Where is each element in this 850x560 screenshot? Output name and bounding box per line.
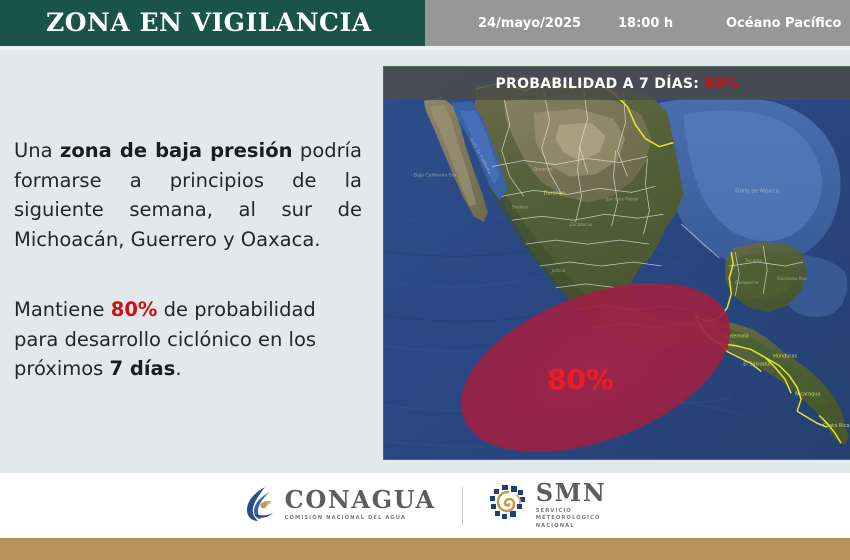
paragraph1-part1: Una bbox=[14, 139, 60, 162]
map-caption-bar: PROBABILIDAD A 7 DÍAS: 80% bbox=[384, 67, 850, 100]
page-header: ZONA EN VIGILANCIA 24/mayo/2025 18:00 h … bbox=[0, 0, 850, 46]
footer-logos: CONAGUA COMISIÓN NACIONAL DEL AGUA bbox=[0, 473, 850, 538]
bulletin-paragraph-1: Una zona de baja presión podría formarse… bbox=[14, 136, 362, 254]
bulletin-text: Una zona de baja presión podría formarse… bbox=[14, 136, 362, 384]
header-basin: Océano Pacífico bbox=[726, 0, 841, 46]
smn-spiral-icon bbox=[489, 484, 527, 526]
conagua-logo: CONAGUA COMISIÓN NACIONAL DEL AGUA bbox=[244, 485, 436, 527]
paragraph2-part3: . bbox=[175, 357, 181, 380]
svg-text:Sinaloa: Sinaloa bbox=[512, 204, 528, 210]
svg-text:Durango: Durango bbox=[534, 166, 553, 172]
svg-text:Nicaragua: Nicaragua bbox=[795, 391, 820, 397]
conagua-name: CONAGUA bbox=[285, 488, 436, 512]
smn-subtitle-line1: SERVICIO bbox=[536, 508, 572, 514]
smn-text: SMN SERVICIOMETEOROLÓGICONACIONAL bbox=[536, 481, 607, 529]
paragraph1-emphasis: zona de baja presión bbox=[60, 139, 292, 162]
smn-logo: SMN SERVICIOMETEOROLÓGICONACIONAL bbox=[489, 481, 607, 529]
forecast-map[interactable]: Golfo de México Baja California Sur Golf… bbox=[383, 66, 850, 460]
smn-subtitle: SERVICIOMETEOROLÓGICONACIONAL bbox=[536, 508, 598, 529]
header-time: 18:00 h bbox=[618, 0, 673, 46]
timeframe-value: 7 días bbox=[110, 357, 176, 380]
svg-text:Zacatecas: Zacatecas bbox=[570, 222, 593, 228]
header-date: 24/mayo/2025 bbox=[478, 0, 581, 46]
svg-text:Jalisco: Jalisco bbox=[551, 268, 566, 274]
smn-subtitle-line2: METEOROLÓGICO bbox=[536, 515, 601, 521]
svg-text:Costa Rica: Costa Rica bbox=[823, 423, 849, 429]
smn-subtitle-line3: NACIONAL bbox=[536, 523, 575, 529]
svg-text:Yucatán: Yucatán bbox=[744, 257, 762, 264]
svg-text:Baja California Sur: Baja California Sur bbox=[414, 172, 457, 178]
footer-accent-bar bbox=[0, 538, 850, 560]
paragraph2-part1: Mantiene bbox=[14, 298, 111, 321]
page-title: ZONA EN VIGILANCIA bbox=[46, 8, 372, 37]
svg-text:Durango: Durango bbox=[544, 190, 565, 196]
svg-text:Quintana Roo: Quintana Roo bbox=[777, 276, 807, 282]
svg-text:El Salvador: El Salvador bbox=[743, 361, 772, 367]
content-top-divider bbox=[0, 46, 850, 50]
svg-text:Campeche: Campeche bbox=[735, 280, 759, 286]
conagua-subtitle: COMISIÓN NACIONAL DEL AGUA bbox=[285, 515, 436, 522]
map-canvas: Golfo de México Baja California Sur Golf… bbox=[384, 67, 850, 459]
svg-text:Honduras: Honduras bbox=[773, 354, 797, 360]
conagua-text: CONAGUA COMISIÓN NACIONAL DEL AGUA bbox=[285, 488, 436, 522]
conagua-water-icon bbox=[244, 485, 276, 527]
svg-text:San Luis Potosí: San Luis Potosí bbox=[606, 195, 640, 202]
bulletin-paragraph-2: Mantiene 80% de probabilidad para desarr… bbox=[14, 295, 362, 384]
footer-divider bbox=[462, 487, 463, 525]
probability-value: 80% bbox=[111, 298, 158, 321]
map-caption-value: 80% bbox=[704, 76, 738, 92]
smn-name: SMN bbox=[536, 481, 607, 505]
svg-text:Golfo de México: Golfo de México bbox=[735, 187, 780, 194]
map-caption-label: PROBABILIDAD A 7 DÍAS: bbox=[495, 76, 699, 92]
